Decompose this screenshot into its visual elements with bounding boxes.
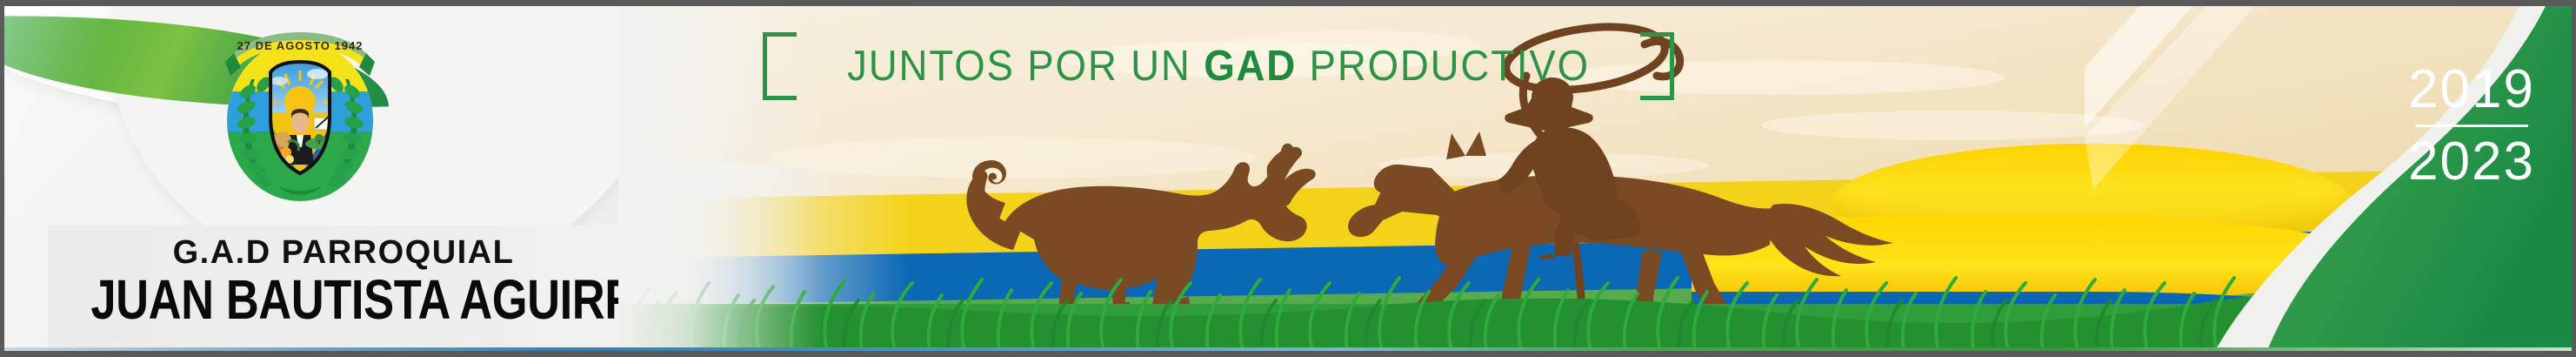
page-title-secondary: JUAN BAUTISTA AGUIRRE [90,267,561,332]
slogan-text: JUNTOS POR UN GAD PRODUCTIVO [826,42,1611,91]
year-end: 2023 [2408,132,2535,192]
leaf-highlight [4,6,202,180]
year-start: 2019 [2408,60,2535,119]
bracket-left-icon [763,32,797,100]
slogan-highlight: GAD [1204,43,1297,90]
year-divider [2415,125,2528,127]
emblem-ribbon-text: 27 DE AGOSTO 1942 [237,39,364,52]
term-years: 2019 2023 [2408,60,2535,192]
bracket-right-icon [1640,32,1674,100]
identity-panel: 27 DE AGOSTO 1942 G.A.D PARROQUIAL JUAN … [4,6,618,351]
slogan-suffix: PRODUCTIVO [1297,43,1590,90]
slogan-prefix: JUNTOS POR UN [847,43,1204,90]
page-title-primary: G.A.D PARROQUIAL [74,234,613,272]
institutional-banner: 27 DE AGOSTO 1942 G.A.D PARROQUIAL JUAN … [0,0,2576,357]
coat-of-arms: 27 DE AGOSTO 1942 [203,11,397,206]
slogan: JUNTOS POR UN GAD PRODUCTIVO [763,36,1674,97]
bottom-accent-line [4,347,2572,351]
